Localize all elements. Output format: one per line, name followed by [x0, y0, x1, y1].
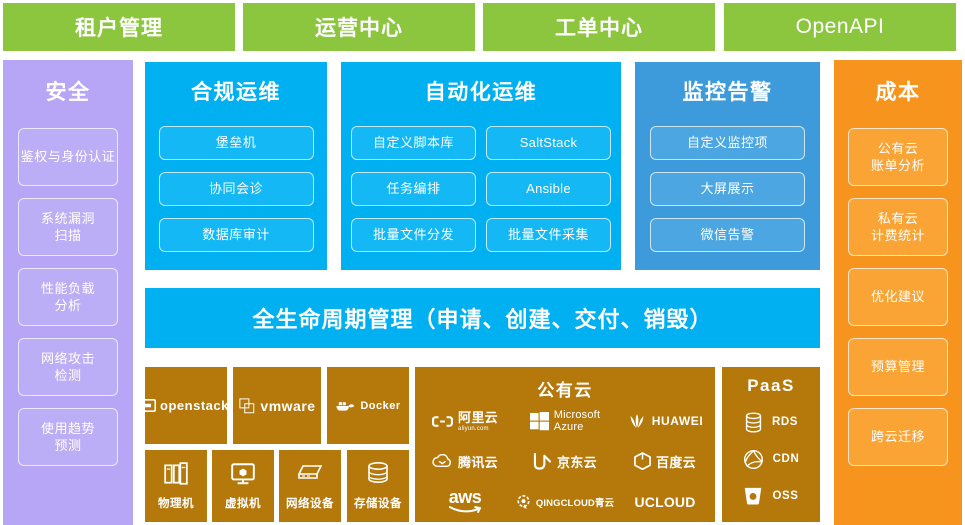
aws-smile-icon — [449, 506, 482, 515]
resource-tile-physical-machine[interactable]: 物理机 — [145, 450, 207, 522]
cloud-label: 京东云 — [557, 452, 597, 471]
compliance-item-bastion[interactable]: 堡垒机 — [159, 126, 314, 160]
openstack-label: openstack. — [160, 398, 233, 413]
architecture-diagram: 租户管理 运营中心 工单中心 OpenAPI 安全 鉴权与身份认证 系统漏洞 扫… — [0, 0, 965, 525]
chip-label: 自定义脚本库 — [373, 134, 454, 151]
panel-security: 安全 鉴权与身份认证 系统漏洞 扫描 性能负载 分析 网络攻击 检测 使用趋势 … — [3, 60, 133, 525]
vmware-label: vmware — [260, 398, 315, 414]
vmware-logo-icon — [238, 397, 256, 415]
database-icon — [366, 461, 390, 487]
cloud-label-microsoft: Microsoft — [554, 409, 600, 422]
automation-item-task-orchestration[interactable]: 任务编排 — [351, 172, 476, 206]
chip-label: Ansible — [526, 180, 571, 197]
security-item-vuln-scan[interactable]: 系统漏洞 扫描 — [18, 198, 118, 256]
panel-public-cloud: 公有云 阿里云 aliyun.com — [415, 367, 715, 522]
openstack-logo-icon: openstack. — [139, 397, 233, 414]
chip-label: 公有云 账单分析 — [871, 140, 925, 174]
paas-service-list: RDS CDN OSS — [722, 396, 820, 522]
panel-paas: PaaS RDS CDN — [722, 367, 820, 522]
public-cloud-logo-grid: 阿里云 aliyun.com Microsoft Azure — [415, 401, 715, 522]
chip-label: 批量文件采集 — [508, 226, 589, 243]
monitoring-item-custom-metrics[interactable]: 自定义监控项 — [650, 126, 805, 160]
aliyun-icon — [432, 415, 453, 428]
chip-label: 性能负载 分析 — [41, 280, 95, 314]
cloud-logo-tencentcloud[interactable]: 腾讯云 — [432, 452, 498, 471]
chip-label: 批量文件分发 — [373, 226, 454, 243]
security-item-usage-forecast[interactable]: 使用趋势 预测 — [18, 408, 118, 466]
database-icon — [744, 412, 763, 433]
resource-label: 物理机 — [158, 495, 194, 511]
panel-title-automation: 自动化运维 — [341, 76, 621, 106]
chip-label: 跨云迁移 — [871, 428, 925, 445]
chip-label: 网络攻击 检测 — [41, 350, 95, 384]
paas-label: OSS — [772, 490, 798, 502]
cloud-logo-ucloud[interactable]: UCLOUD — [634, 494, 695, 510]
panel-compliance-ops: 合规运维 堡垒机 协同会诊 数据库审计 — [145, 62, 327, 270]
security-item-auth[interactable]: 鉴权与身份认证 — [18, 128, 118, 186]
cloud-label: UCLOUD — [634, 494, 695, 510]
cloud-logo-aliyun[interactable]: 阿里云 aliyun.com — [432, 411, 498, 432]
microsoft-windows-icon — [530, 412, 549, 431]
baidu-cloud-icon — [634, 452, 651, 470]
cloud-label: 腾讯云 — [458, 452, 498, 471]
chip-label: 鉴权与身份认证 — [21, 148, 116, 165]
resource-label: 网络设备 — [286, 495, 334, 511]
chip-label: 协同会诊 — [209, 180, 263, 197]
compliance-item-db-audit[interactable]: 数据库审计 — [159, 218, 314, 252]
lifecycle-label: 全生命周期管理（申请、创建、交付、销毁） — [252, 302, 712, 334]
automation-item-saltstack[interactable]: SaltStack — [486, 126, 611, 160]
switch-icon — [296, 461, 324, 487]
cost-item-optimization-advice[interactable]: 优化建议 — [848, 268, 948, 326]
paas-service-oss[interactable]: OSS — [722, 485, 820, 506]
platform-tile-docker[interactable]: Docker — [327, 367, 409, 444]
resource-tile-virtual-machine[interactable]: 虚拟机 — [212, 450, 274, 522]
panel-monitoring-alerts: 监控告警 自定义监控项 大屏展示 微信告警 — [635, 62, 820, 270]
chip-label: 系统漏洞 扫描 — [41, 210, 95, 244]
chip-label: 自定义监控项 — [687, 134, 768, 151]
monitoring-item-dashboard[interactable]: 大屏展示 — [650, 172, 805, 206]
cloud-sublabel: aliyun.com — [458, 426, 498, 432]
panel-title-security: 安全 — [3, 76, 133, 106]
globe-icon — [743, 449, 764, 470]
cloud-label: 阿里云 — [458, 411, 498, 424]
compliance-item-collab-diagnosis[interactable]: 协同会诊 — [159, 172, 314, 206]
huawei-flower-icon — [627, 413, 647, 430]
panel-cost: 成本 公有云 账单分析 私有云 计费统计 优化建议 预算管理 跨云迁移 — [834, 60, 962, 525]
cost-item-cross-cloud-migration[interactable]: 跨云迁移 — [848, 408, 948, 466]
chip-label: 大屏展示 — [700, 180, 754, 197]
nav-openapi[interactable]: OpenAPI — [724, 3, 956, 51]
cloud-logo-azure[interactable]: Microsoft Azure — [530, 409, 600, 434]
panel-title-cost: 成本 — [834, 76, 962, 106]
chip-label: 私有云 计费统计 — [871, 210, 925, 244]
security-item-perf-analysis[interactable]: 性能负载 分析 — [18, 268, 118, 326]
automation-item-batch-file-distribute[interactable]: 批量文件分发 — [351, 218, 476, 252]
cloud-label: HUAWEI — [652, 414, 704, 428]
nav-tenant-management[interactable]: 租户管理 — [3, 3, 235, 51]
platform-tile-openstack[interactable]: openstack. — [145, 367, 227, 444]
panel-title-paas: PaaS — [722, 376, 820, 396]
chip-label: 预算管理 — [871, 358, 925, 375]
automation-item-ansible[interactable]: Ansible — [486, 172, 611, 206]
resource-tile-network-device[interactable]: 网络设备 — [279, 450, 341, 522]
cloud-label: QINGCLOUD青云 — [536, 495, 614, 509]
chip-label: 堡垒机 — [216, 134, 257, 151]
cloud-logo-qingcloud[interactable]: QINGCLOUD青云 — [516, 494, 614, 510]
monitor-icon — [230, 461, 256, 487]
nav-ticket-center[interactable]: 工单中心 — [483, 3, 715, 51]
cloud-label: 百度云 — [656, 452, 696, 471]
chip-label: 微信告警 — [700, 226, 754, 243]
chip-label: 数据库审计 — [202, 226, 270, 243]
panel-automation-ops: 自动化运维 自定义脚本库 SaltStack 任务编排 Ansible 批量文件… — [341, 62, 621, 270]
panel-title-monitoring: 监控告警 — [635, 76, 820, 106]
resource-label: 虚拟机 — [225, 495, 261, 511]
nav-label: 工单中心 — [555, 12, 643, 42]
cost-item-private-cloud-billing[interactable]: 私有云 计费统计 — [848, 198, 948, 256]
docker-whale-icon — [335, 398, 355, 414]
lifecycle-management-bar[interactable]: 全生命周期管理（申请、创建、交付、销毁） — [145, 288, 820, 348]
paas-service-rds[interactable]: RDS — [722, 412, 820, 433]
chip-label: 任务编排 — [386, 180, 440, 197]
docker-label: Docker — [360, 400, 400, 412]
nav-label: OpenAPI — [796, 15, 885, 39]
paas-label: RDS — [772, 416, 798, 428]
chip-label: SaltStack — [520, 134, 578, 151]
security-item-attack-detection[interactable]: 网络攻击 检测 — [18, 338, 118, 396]
cloud-logo-baiduyun[interactable]: 百度云 — [634, 452, 696, 471]
cost-item-public-cloud-bill[interactable]: 公有云 账单分析 — [848, 128, 948, 186]
tencent-cloud-icon — [432, 454, 453, 469]
panel-title-compliance: 合规运维 — [145, 76, 327, 106]
platform-tile-vmware[interactable]: vmware — [233, 367, 321, 444]
resource-tile-storage-device[interactable]: 存储设备 — [347, 450, 409, 522]
chip-label: 使用趋势 预测 — [41, 420, 95, 454]
cloud-logo-huawei[interactable]: HUAWEI — [627, 413, 704, 430]
bucket-icon — [743, 485, 763, 506]
cloud-logo-jdcloud[interactable]: 京东云 — [533, 452, 597, 471]
panel-title-public-cloud: 公有云 — [415, 376, 715, 401]
jd-cloud-icon — [533, 453, 552, 470]
nav-label: 运营中心 — [315, 12, 403, 42]
paas-label: CDN — [773, 453, 800, 465]
cloud-logo-aws[interactable]: aws — [449, 488, 482, 515]
resource-label: 存储设备 — [354, 495, 402, 511]
nav-operations-center[interactable]: 运营中心 — [243, 3, 475, 51]
monitoring-item-wechat-alert[interactable]: 微信告警 — [650, 218, 805, 252]
nav-label: 租户管理 — [75, 12, 163, 42]
automation-item-batch-file-collect[interactable]: 批量文件采集 — [486, 218, 611, 252]
server-rack-icon — [163, 461, 189, 487]
cost-item-budget-management[interactable]: 预算管理 — [848, 338, 948, 396]
automation-item-script-library[interactable]: 自定义脚本库 — [351, 126, 476, 160]
paas-service-cdn[interactable]: CDN — [722, 449, 820, 470]
chip-label: 优化建议 — [871, 288, 925, 305]
cloud-label: aws — [449, 488, 482, 506]
qingcloud-icon — [516, 494, 531, 510]
cloud-label-azure: Azure — [554, 421, 600, 434]
